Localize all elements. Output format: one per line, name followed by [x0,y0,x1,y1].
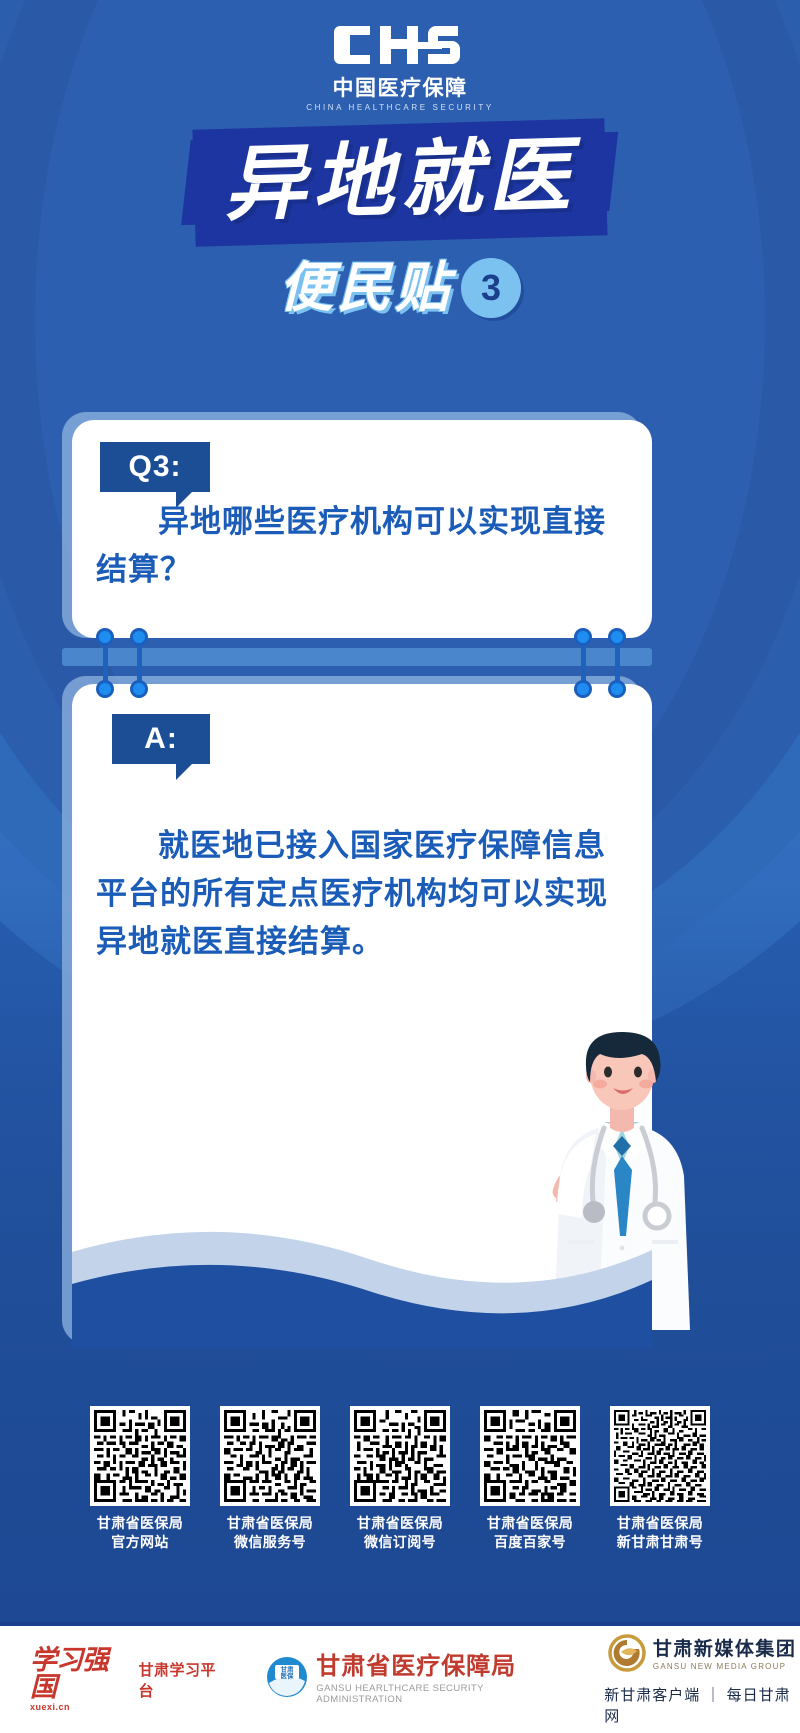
footer-divider [0,1622,800,1626]
footer-bar: 学习强国 xuexi.cn 甘肃学习平台 甘肃 医保 甘肃省医疗保障局 GANS… [0,1626,800,1733]
qr-item[interactable]: 甘肃省医保局 百度百家号 [478,1406,583,1606]
new-media-sub: 新甘肃客户端 ｜ 每日甘肃网 [604,1684,800,1726]
decorative-wave [72,1180,652,1348]
qr-item[interactable]: 甘肃省医保局 微信服务号 [218,1406,323,1606]
qr-caption-line2: 微信订阅号 [348,1533,453,1552]
footer-logo-xuexi[interactable]: 学习强国 xuexi.cn 甘肃学习平台 [30,1647,228,1712]
xuexi-url: xuexi.cn [30,1702,70,1712]
subtitle-text: 便民贴 [279,261,453,315]
logo-english-name: CHINA HEALTHCARE SECURITY [0,103,800,112]
qr-caption-line2: 微信服务号 [218,1533,323,1552]
qr-caption-line1: 甘肃省医保局 [608,1514,713,1533]
brand-logo: 中国医疗保障 CHINA HEALTHCARE SECURITY [0,22,800,112]
chs-monogram-icon [334,22,466,68]
card-connector-bar [62,648,652,666]
qr-code-image-website[interactable] [90,1406,190,1506]
qr-code-image-wechat-service[interactable] [220,1406,320,1506]
qr-caption-line1: 甘肃省医保局 [88,1514,193,1533]
gansu-hsa-en: GANSU HEARLTHCARE SECURITY ADMINISTRATIO… [316,1683,562,1705]
qr-caption-line1: 甘肃省医保局 [218,1514,323,1533]
new-media-emblem-icon [608,1634,646,1677]
qr-code-strip: 甘肃省医保局 官方网站 [0,1406,800,1606]
logo-chinese-name: 中国医疗保障 [0,77,800,100]
question-text: 异地哪些医疗机构可以实现直接结算？ [96,498,634,594]
question-tag: Q3: [100,442,210,492]
gansu-hsa-cn: 甘肃省医疗保障局 [316,1655,562,1679]
new-media-en: GANSU NEW MEDIA GROUP [653,1662,797,1671]
qr-item[interactable]: 甘肃省医保局 官方网站 [88,1406,193,1606]
qr-code-image-xingansu[interactable] [610,1406,710,1506]
qr-caption-line2: 百度百家号 [478,1533,583,1552]
qr-item[interactable]: 甘肃省医保局 新甘肃甘肃号 [608,1406,713,1606]
qr-caption-line2: 新甘肃甘肃号 [608,1533,713,1552]
gansu-hsa-emblem-icon: 甘肃 医保 [266,1656,308,1703]
xuexi-platform-label: 甘肃学习平台 [138,1659,228,1701]
answer-tag: A: [112,714,210,764]
qr-caption: 甘肃省医保局 官方网站 [88,1514,193,1552]
main-title-area: 异地就医 [0,128,800,237]
qr-caption-line2: 官方网站 [88,1533,193,1552]
xuexi-brand: 学习强国 [30,1647,130,1701]
qr-caption: 甘肃省医保局 微信服务号 [218,1514,323,1552]
answer-text: 就医地已接入国家医疗保障信息平台的所有定点医疗机构均可以实现异地就医直接结算。 [96,822,634,966]
qr-code-image-baidu[interactable] [480,1406,580,1506]
new-media-cn: 甘肃新媒体集团 [653,1640,797,1659]
poster-root: 中国医疗保障 CHINA HEALTHCARE SECURITY 异地就医 便民… [0,0,800,1733]
subtitle-area: 便民贴 3 [0,258,800,318]
qr-caption-line1: 甘肃省医保局 [348,1514,453,1533]
title-band: 异地就医 [197,122,604,243]
footer-logo-gansu-hsa[interactable]: 甘肃 医保 甘肃省医疗保障局 GANSU HEARLTHCARE SECURIT… [266,1655,562,1705]
svg-text:医保: 医保 [281,1671,295,1680]
issue-number-badge: 3 [461,258,521,318]
footer-logo-new-media[interactable]: 甘肃新媒体集团 GANSU NEW MEDIA GROUP 新甘肃客户端 ｜ 每… [604,1634,800,1726]
main-title: 异地就医 [223,130,577,231]
qr-code-image-wechat-subscribe[interactable] [350,1406,450,1506]
qr-caption-line1: 甘肃省医保局 [478,1514,583,1533]
qr-item[interactable]: 甘肃省医保局 微信订阅号 [348,1406,453,1606]
qr-caption: 甘肃省医保局 百度百家号 [478,1514,583,1552]
qr-caption: 甘肃省医保局 新甘肃甘肃号 [608,1514,713,1552]
qr-caption: 甘肃省医保局 微信订阅号 [348,1514,453,1552]
